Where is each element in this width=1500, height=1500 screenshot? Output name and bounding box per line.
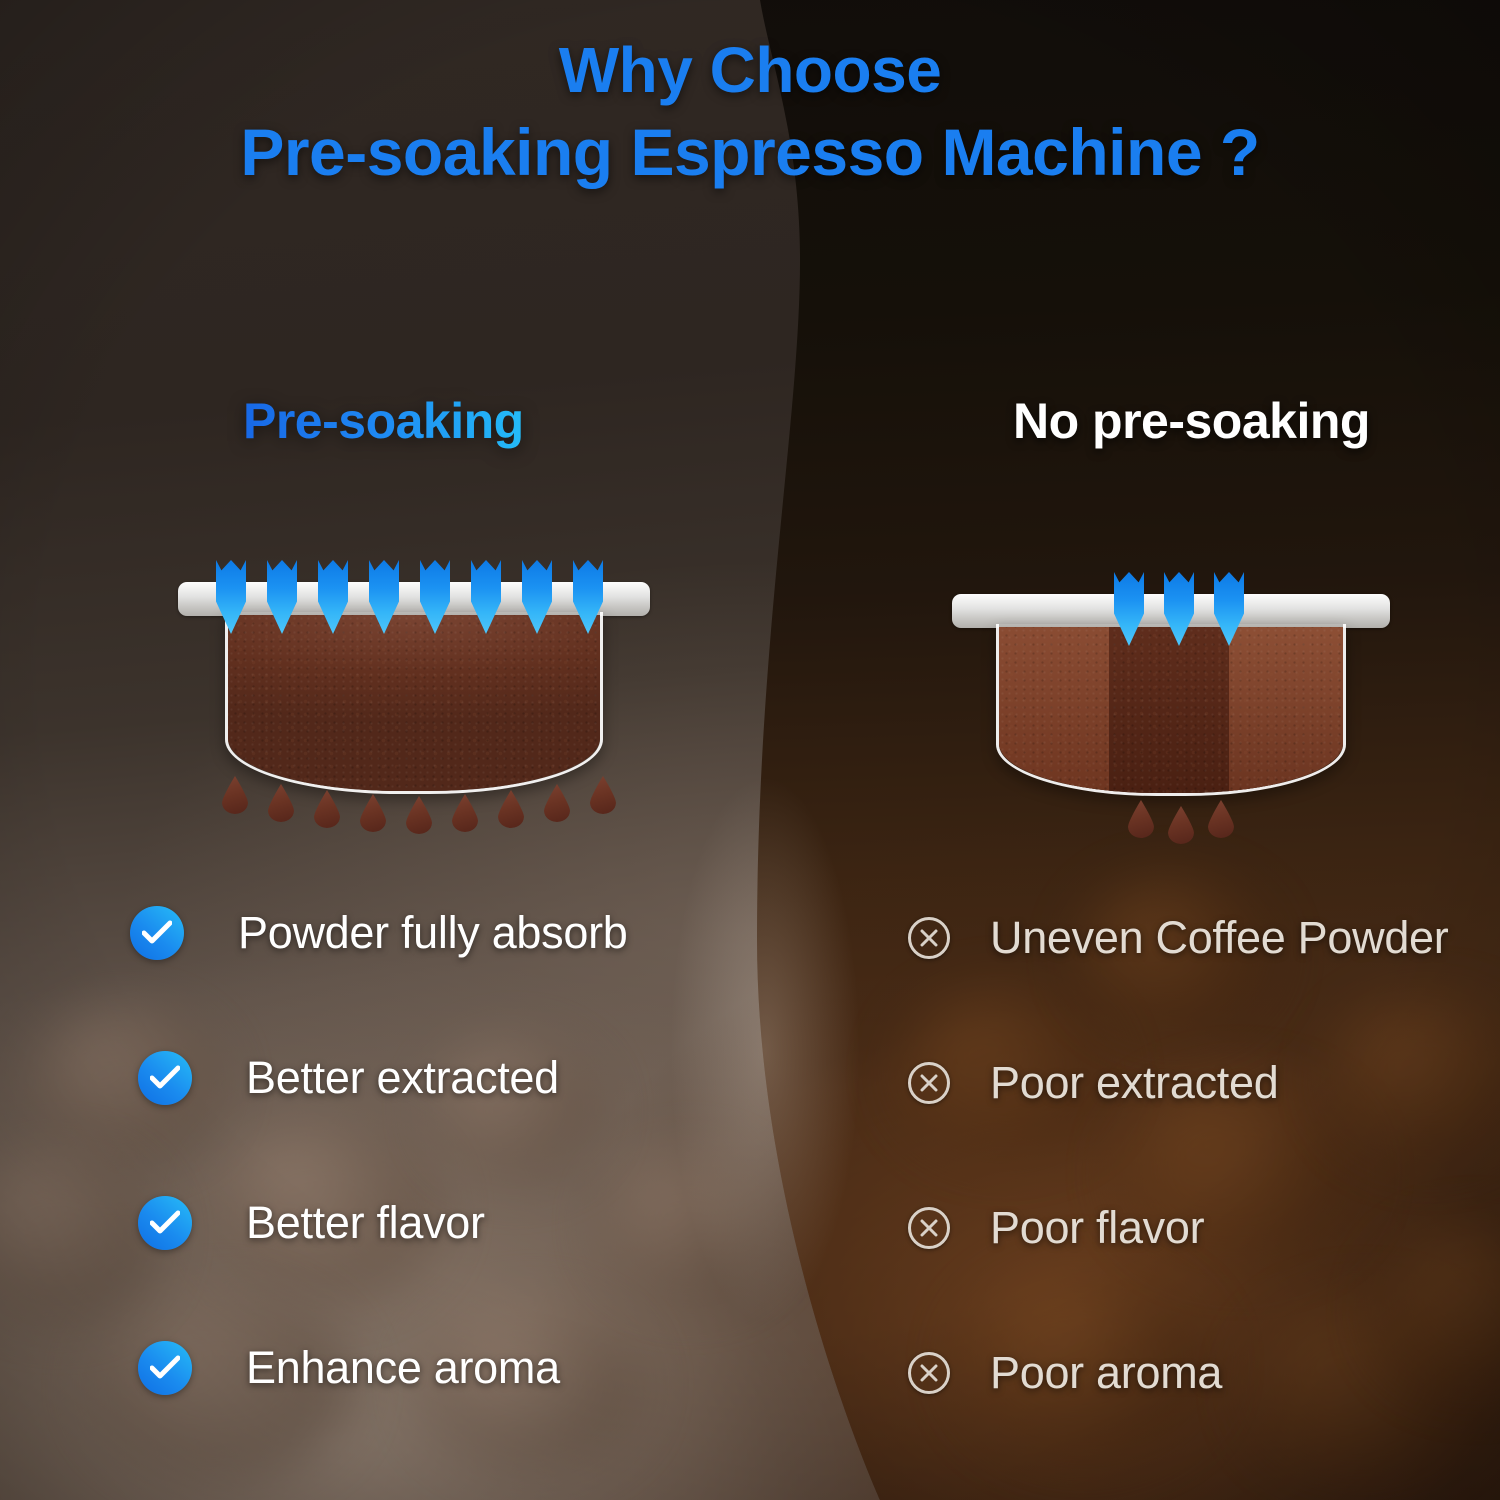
illustration-pre-soaking-portafilter [178,582,650,812]
column-heading-no-pre-soaking: No pre-soaking [1013,392,1370,450]
drawbacks-list-no-pre-soaking: Uneven Coffee Powder Poor extracted Poor… [908,890,1500,1420]
list-item-label: Poor flavor [990,1202,1204,1254]
list-item-label: Better extracted [246,1052,559,1104]
x-circle-icon [908,1352,950,1394]
espresso-drop [1208,800,1234,838]
check-circle-icon [138,1196,192,1250]
x-circle-icon [908,917,950,959]
list-item-label: Enhance aroma [246,1342,560,1394]
espresso-drop [1128,800,1154,838]
coffee-grain-texture [999,627,1343,793]
list-item-label: Better flavor [246,1197,485,1249]
espresso-drop [406,796,432,834]
coffee-puck-uneven [999,627,1343,793]
title-line-2: Pre-soaking Espresso Machine ? [0,117,1500,188]
page-title: Why Choose Pre-soaking Espresso Machine … [0,36,1500,188]
check-circle-icon [138,1341,192,1395]
list-item-label: Uneven Coffee Powder [990,912,1448,964]
espresso-drop [1168,806,1194,844]
list-item[interactable]: Uneven Coffee Powder [908,912,1448,964]
check-circle-icon [130,906,184,960]
coffee-grain-texture [228,615,600,791]
list-item[interactable]: Poor aroma [908,1347,1222,1399]
title-line-1: Why Choose [559,34,942,106]
list-item[interactable]: Better extracted [138,1051,559,1105]
benefits-list-pre-soaking: Powder fully absorb Better extracted Bet… [130,890,750,1420]
x-circle-icon [908,1207,950,1249]
list-item[interactable]: Poor flavor [908,1202,1204,1254]
list-item-label: Poor extracted [990,1057,1278,1109]
espresso-drop [452,794,478,832]
espresso-drop [360,794,386,832]
espresso-drop [314,790,340,828]
list-item-label: Powder fully absorb [238,907,628,959]
check-circle-icon [138,1051,192,1105]
list-item[interactable]: Better flavor [138,1196,485,1250]
x-circle-icon [908,1062,950,1104]
column-heading-pre-soaking: Pre-soaking [243,392,524,450]
list-item-label: Poor aroma [990,1347,1222,1399]
list-item[interactable]: Enhance aroma [138,1341,560,1395]
coffee-puck-even [228,615,600,791]
list-item[interactable]: Poor extracted [908,1057,1278,1109]
espresso-drop [498,790,524,828]
list-item[interactable]: Powder fully absorb [130,906,628,960]
illustration-no-pre-soaking-portafilter [952,594,1390,814]
infographic-canvas: Why Choose Pre-soaking Espresso Machine … [0,0,1500,1500]
